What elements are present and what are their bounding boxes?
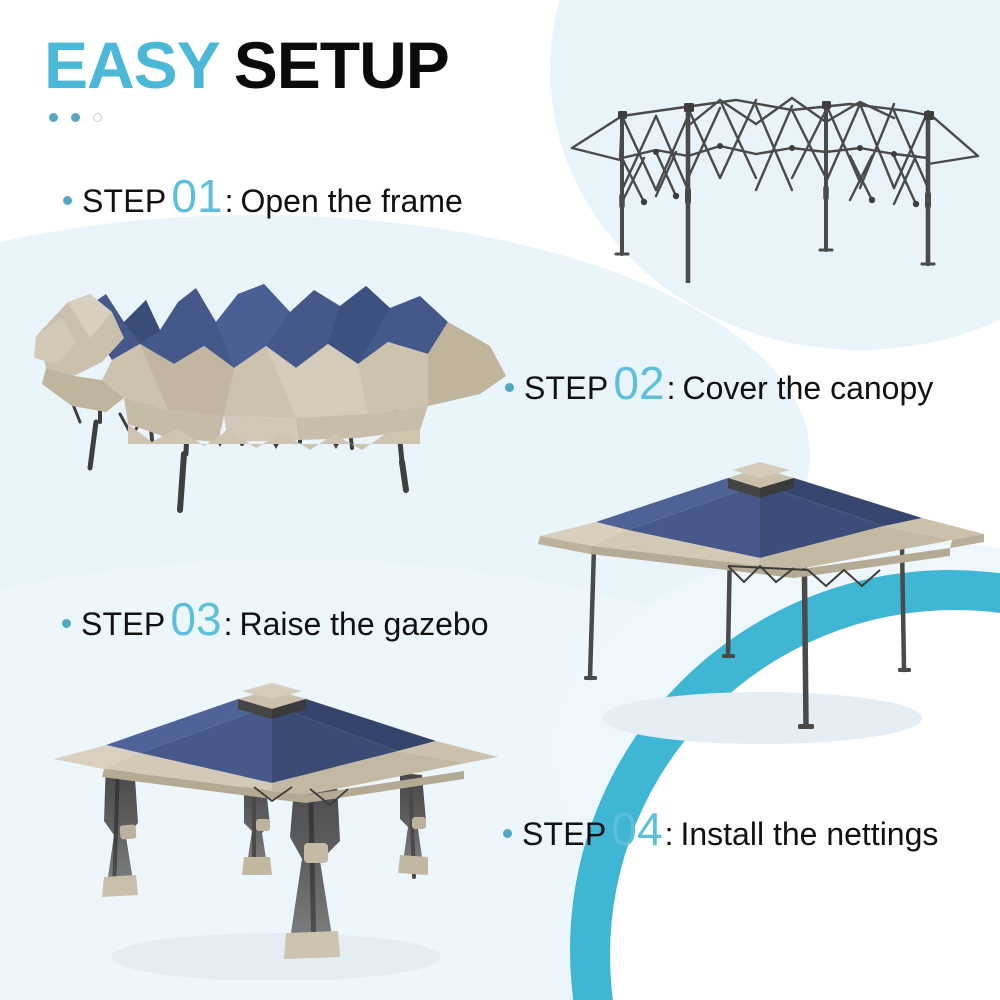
title-highlight: EASY (44, 28, 220, 102)
step-separator: : (667, 370, 676, 407)
step-separator: : (224, 606, 233, 643)
step-label: STEP (81, 606, 165, 643)
step-description: Cover the canopy (682, 370, 933, 407)
step-label: STEP (82, 183, 166, 220)
step-description: Raise the gazebo (239, 606, 488, 643)
bullet-icon (63, 196, 72, 205)
step-number: 04 (611, 806, 662, 852)
page-title: EASYSETUP (44, 32, 449, 98)
step-separator: : (665, 816, 674, 853)
step-caption-02: STEP 02 : Cover the canopy (505, 360, 933, 407)
title-dot-2 (71, 113, 80, 122)
illustration-raised-gazebo (532, 448, 994, 748)
raised-gazebo-svg (532, 448, 994, 748)
frame-lattice-svg (560, 78, 990, 283)
illustration-draped-canopy (28, 272, 523, 517)
title-dot-1 (49, 113, 58, 122)
illustration-open-frame (560, 78, 990, 283)
step-label: STEP (524, 370, 608, 407)
step-description: Install the nettings (680, 816, 938, 853)
gazebo-netting-svg (48, 665, 503, 980)
bullet-icon (503, 829, 512, 838)
step-number: 03 (170, 596, 221, 642)
easy-setup-poster: EASYSETUP STEP 01 : Open the frame STEP … (0, 0, 1000, 1000)
step-number: 01 (171, 173, 222, 219)
step-caption-01: STEP 01 : Open the frame (63, 173, 463, 220)
title-dot-3 (93, 113, 102, 122)
title-rest: SETUP (234, 28, 449, 102)
step-label: STEP (522, 816, 606, 853)
netting-gazebo-shadow (111, 933, 441, 980)
bullet-icon (62, 619, 71, 628)
draped-canopy-svg (28, 272, 523, 517)
illustration-gazebo-netting (48, 665, 503, 980)
title-dots (49, 113, 449, 122)
step-separator: : (225, 183, 234, 220)
title-block: EASYSETUP (44, 32, 449, 122)
step-number: 02 (613, 360, 664, 406)
step-caption-03: STEP 03 : Raise the gazebo (62, 596, 489, 643)
step-description: Open the frame (240, 183, 462, 220)
gazebo-shadow (602, 692, 922, 744)
step-caption-04: STEP 04 : Install the nettings (503, 806, 938, 853)
